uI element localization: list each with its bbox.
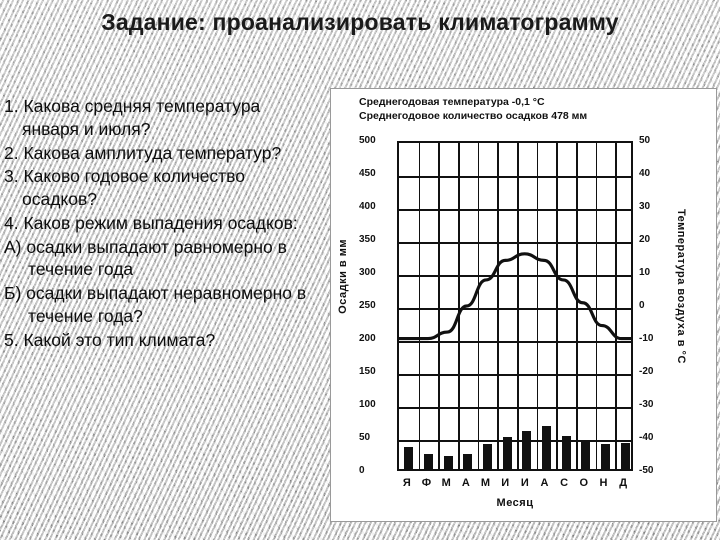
- y-tick-right: -50: [639, 465, 653, 477]
- page-title: Задание: проанализировать климатограмму: [0, 8, 720, 36]
- y-tick-left: 50: [359, 432, 370, 444]
- chart-header: Среднегодовая температура -0,1 °C Средне…: [359, 95, 709, 123]
- precipitation-bar: [621, 443, 630, 469]
- gridline-vertical: [596, 143, 598, 469]
- y-tick-left: 250: [359, 300, 376, 312]
- question-item: А) осадки выпадают равномерно в течение …: [4, 236, 322, 282]
- precipitation-bar: [542, 426, 551, 469]
- precipitation-bar: [404, 447, 413, 469]
- precipitation-bar: [522, 431, 531, 469]
- gridline-vertical: [556, 143, 558, 469]
- y-tick-right: 0: [639, 300, 645, 312]
- month-label: М: [477, 477, 495, 489]
- month-label: И: [516, 477, 534, 489]
- gridline-vertical: [517, 143, 519, 469]
- y-tick-right: 50: [639, 135, 650, 147]
- y-tick-left: 200: [359, 333, 376, 345]
- precipitation-bar: [601, 444, 610, 469]
- y-tick-right: 30: [639, 201, 650, 213]
- gridline-vertical: [537, 143, 539, 469]
- question-list: 1. Какова средняя температура января и и…: [4, 95, 322, 352]
- y-tick-left: 450: [359, 168, 376, 180]
- month-label: Ф: [418, 477, 436, 489]
- month-label: Я: [398, 477, 416, 489]
- y-axis-left-title: Осадки в мм: [337, 239, 349, 314]
- y-tick-left: 500: [359, 135, 376, 147]
- y-tick-left: 400: [359, 201, 376, 213]
- gridline-vertical: [615, 143, 617, 469]
- question-item: 4. Каков режим выпадения осадков:: [4, 212, 322, 235]
- gridline-vertical: [438, 143, 440, 469]
- month-label: А: [536, 477, 554, 489]
- plot-area: [397, 141, 633, 471]
- precipitation-bar: [562, 436, 571, 469]
- precipitation-bar: [424, 454, 433, 469]
- precipitation-bar: [483, 444, 492, 469]
- month-label: С: [555, 477, 573, 489]
- month-label: О: [575, 477, 593, 489]
- y-tick-right: -10: [639, 333, 653, 345]
- question-item: Б) осадки выпадают неравномерно в течени…: [4, 282, 322, 328]
- y-tick-right: -20: [639, 366, 653, 378]
- question-item: 5. Какой это тип климата?: [4, 329, 322, 352]
- month-label: Д: [614, 477, 632, 489]
- month-label: А: [457, 477, 475, 489]
- y-tick-left: 0: [359, 465, 365, 477]
- question-item: 3. Каково годовое количество осадков?: [4, 165, 322, 211]
- y-tick-right: 40: [639, 168, 650, 180]
- chart-subtitle: Среднегодовое количество осадков 478 мм: [359, 109, 709, 123]
- x-axis-month-labels: ЯФМАМИИАСОНД: [397, 477, 633, 491]
- precipitation-bar: [503, 437, 512, 469]
- y-axis-right-title: Температура воздуха в °С: [675, 209, 687, 364]
- gridline-vertical: [478, 143, 480, 469]
- y-tick-left: 300: [359, 267, 376, 279]
- y-tick-left: 100: [359, 399, 376, 411]
- climatogram-panel: Среднегодовая температура -0,1 °C Средне…: [330, 88, 717, 522]
- gridline-vertical: [419, 143, 421, 469]
- y-tick-right: -30: [639, 399, 653, 411]
- question-item: 2. Какова амплитуда температур?: [4, 142, 322, 165]
- month-label: М: [437, 477, 455, 489]
- chart-title: Среднегодовая температура -0,1 °C: [359, 95, 709, 109]
- y-tick-left: 350: [359, 234, 376, 246]
- gridline-vertical: [458, 143, 460, 469]
- precipitation-bar: [581, 441, 590, 469]
- y-tick-right: 10: [639, 267, 650, 279]
- y-tick-right: 20: [639, 234, 650, 246]
- y-tick-left: 150: [359, 366, 376, 378]
- month-label: Н: [595, 477, 613, 489]
- gridline-vertical: [497, 143, 499, 469]
- x-axis-title: Месяц: [397, 497, 633, 509]
- y-tick-right: -40: [639, 432, 653, 444]
- gridline-vertical: [576, 143, 578, 469]
- question-item: 1. Какова средняя температура января и и…: [4, 95, 322, 141]
- precipitation-bar: [463, 454, 472, 469]
- month-label: И: [496, 477, 514, 489]
- precipitation-bar: [444, 456, 453, 469]
